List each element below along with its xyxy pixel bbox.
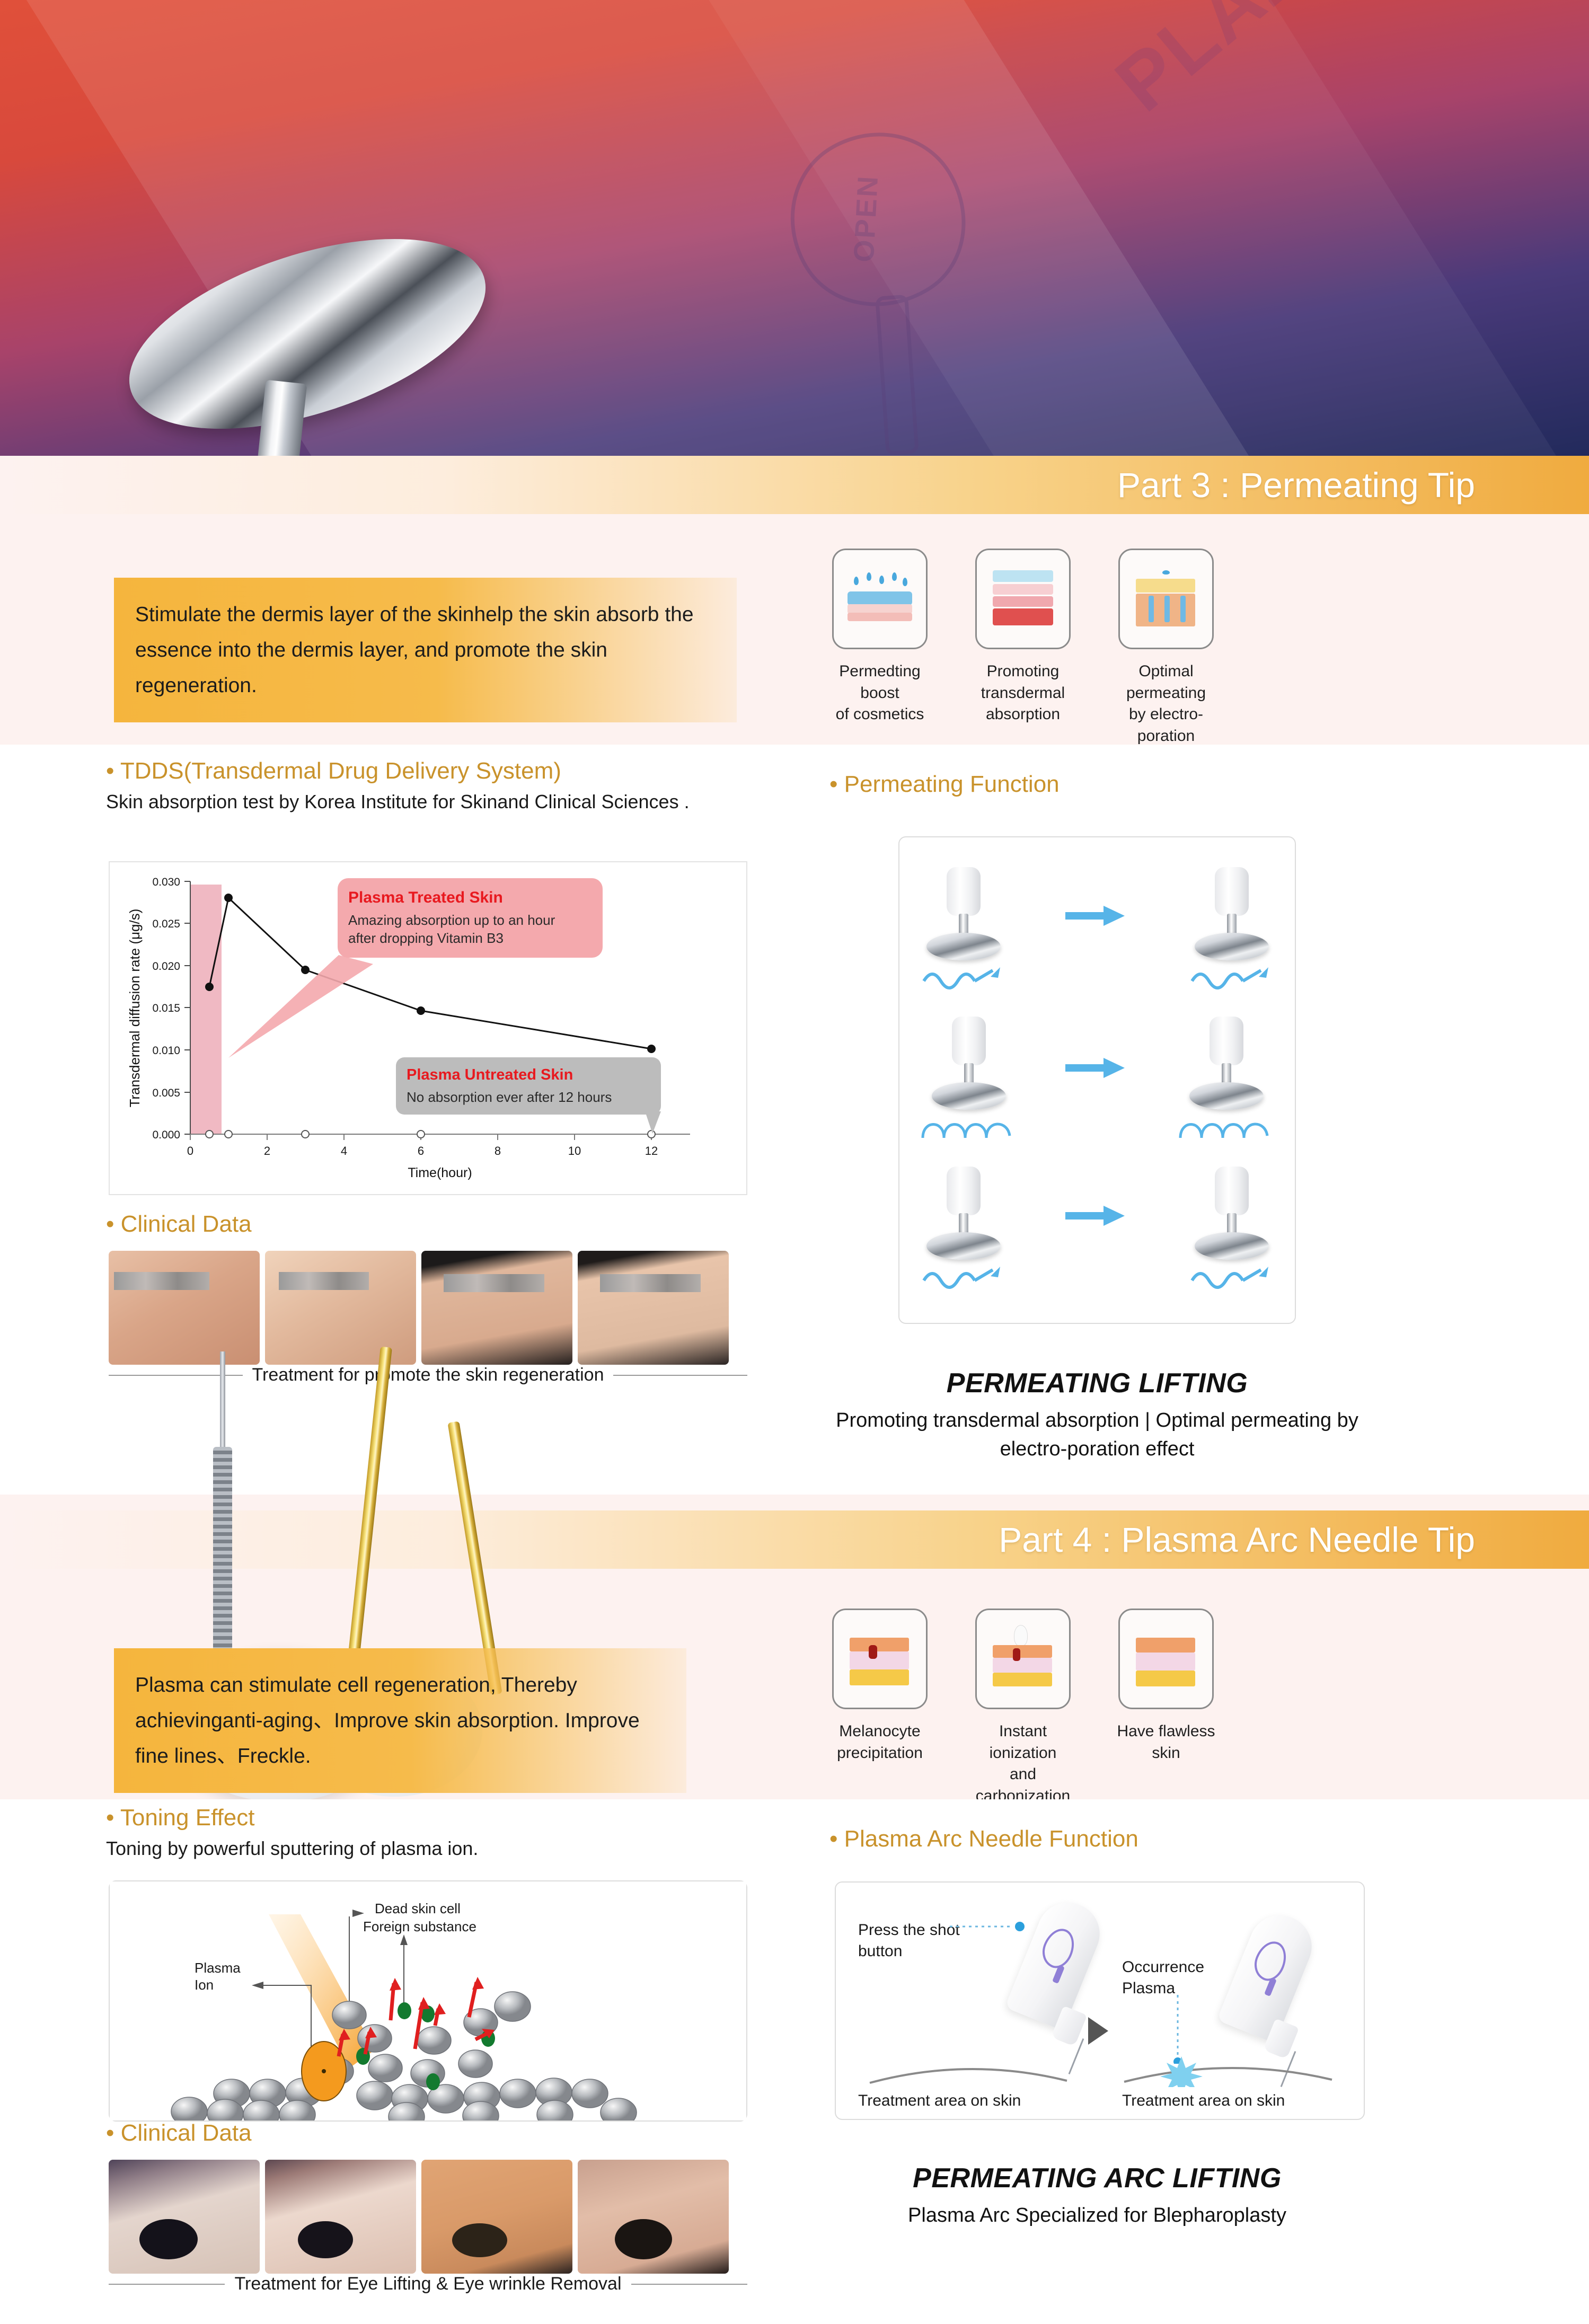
svg-text:Plasma: Plasma bbox=[195, 1960, 241, 1976]
tdds-heading: • TDDS(Transdermal Drug Delivery System) bbox=[106, 758, 769, 784]
permeating-lifting-title: PERMEATING LIFTING bbox=[829, 1367, 1365, 1399]
arc-step2-label: Occurrence Plasma bbox=[1122, 1957, 1204, 1999]
part3-clinical-heading: • Clinical Data bbox=[106, 1211, 252, 1238]
clinical-photo bbox=[265, 1251, 416, 1365]
permeating-function-heading: • Permeating Function bbox=[829, 771, 1060, 798]
part3-photo-caption: Treatment for promote the skin regenerat… bbox=[109, 1365, 747, 1385]
coil-icon bbox=[1178, 1115, 1274, 1143]
arrow-right-icon bbox=[1065, 1204, 1129, 1228]
svg-text:0.005: 0.005 bbox=[152, 1087, 180, 1099]
tdds-chart: 0.030 0.025 0.020 0.015 0.010 0.005 0.00… bbox=[110, 862, 746, 1194]
wave-icon bbox=[921, 1265, 1005, 1293]
part3-photo-row bbox=[109, 1251, 729, 1365]
arc-lifting-title: PERMEATING ARC LIFTING bbox=[829, 2162, 1365, 2194]
toning-block: • Toning Effect Toning by powerful sputt… bbox=[106, 1805, 769, 1862]
skin-curve-icon bbox=[868, 2055, 1069, 2087]
dotted-leader-icon bbox=[1173, 1995, 1182, 2064]
svg-text:Foreign substance: Foreign substance bbox=[363, 1919, 476, 1934]
svg-text:12: 12 bbox=[645, 1144, 658, 1157]
part3-icon-label-0: Permedting boost of cosmetics bbox=[829, 661, 930, 726]
melanocyte-icon bbox=[832, 1609, 928, 1709]
part4-icon-card-1: Instant ionization and carbonization of … bbox=[973, 1609, 1073, 1828]
svg-text:4: 4 bbox=[341, 1144, 347, 1157]
bullet-icon: • bbox=[106, 758, 114, 784]
part4-icon-label-2: Have flawless skin bbox=[1117, 1721, 1215, 1764]
bullet-icon: • bbox=[106, 1805, 114, 1831]
wave-icon bbox=[921, 965, 1005, 994]
arc-caption-2: Treatment area on skin bbox=[1122, 2090, 1285, 2111]
svg-text:Dead skin cell: Dead skin cell bbox=[375, 1901, 461, 1916]
clinical-photo bbox=[109, 1251, 260, 1365]
part4-icon-card-0: Melanocyte precipitation bbox=[829, 1609, 930, 1828]
svg-text:after dropping Vitamin B3: after dropping Vitamin B3 bbox=[348, 930, 504, 946]
part4-title: Part 4 : Plasma Arc Needle Tip bbox=[999, 1519, 1475, 1560]
clinical-eye-photo bbox=[265, 2160, 416, 2274]
part4-icon-label-0: Melanocyte precipitation bbox=[837, 1721, 923, 1764]
device-watermark-label: OPEN bbox=[848, 174, 885, 263]
part4-clinical-heading: • Clinical Data bbox=[106, 2120, 252, 2146]
flawless-skin-icon bbox=[1118, 1609, 1214, 1709]
part3-band: Part 3 : Permeating Tip bbox=[0, 456, 1589, 514]
part4-photo-row bbox=[109, 2160, 729, 2274]
part3-icon-card-1: Promoting transdermal absorption bbox=[973, 549, 1073, 768]
coil-icon bbox=[921, 1115, 1016, 1143]
clinical-eye-photo bbox=[109, 2160, 260, 2274]
toning-diagram: Plasma Ion Dead skin cell Foreign substa… bbox=[110, 1881, 746, 2120]
part3-icon-label-1: Promoting transdermal absorption bbox=[981, 661, 1065, 726]
svg-text:Plasma Untreated Skin: Plasma Untreated Skin bbox=[407, 1066, 573, 1083]
part3-icon-card-0: Permedting boost of cosmetics bbox=[829, 549, 930, 768]
page-root: PLAZ OPEN Part 3 : Permeating Tip Stimul… bbox=[0, 0, 1589, 2324]
part4-band: Part 4 : Plasma Arc Needle Tip bbox=[0, 1510, 1589, 1569]
permeating-tip-device-photo bbox=[90, 233, 493, 456]
clinical-photo bbox=[578, 1251, 729, 1365]
svg-text:Ion: Ion bbox=[195, 1977, 214, 1993]
svg-text:6: 6 bbox=[418, 1144, 424, 1157]
svg-text:Plasma Treated Skin: Plasma Treated Skin bbox=[348, 889, 503, 906]
svg-text:8: 8 bbox=[495, 1144, 501, 1157]
bullet-icon: • bbox=[106, 2120, 114, 2146]
svg-text:0.015: 0.015 bbox=[152, 1002, 180, 1014]
permeating-row-2 bbox=[921, 1017, 1274, 1143]
chart-highlight-band bbox=[190, 885, 222, 1134]
arc-step1-label: Press the shot button bbox=[858, 1920, 960, 1961]
svg-text:0.020: 0.020 bbox=[152, 960, 180, 973]
svg-text:0: 0 bbox=[187, 1144, 193, 1157]
plasma-spark-icon bbox=[1160, 2056, 1203, 2087]
device-icon bbox=[1191, 867, 1271, 965]
skin-curve-icon bbox=[1122, 2055, 1334, 2087]
arc-function-heading: • Plasma Arc Needle Function bbox=[829, 1826, 1138, 1852]
device-icon bbox=[1186, 1017, 1266, 1115]
arc-function-panel: Press the shot button Treatment area on … bbox=[835, 1881, 1365, 2120]
permeating-function-panel bbox=[898, 836, 1296, 1324]
permeating-lifting-caption: PERMEATING LIFTING Promoting transdermal… bbox=[829, 1367, 1365, 1464]
arc-caption-1: Treatment area on skin bbox=[858, 2090, 1021, 2111]
permeating-row-3 bbox=[921, 1167, 1274, 1293]
svg-text:2: 2 bbox=[264, 1144, 270, 1157]
arc-lifting-subtitle: Plasma Arc Specialized for Blepharoplast… bbox=[829, 2202, 1365, 2230]
bullet-icon: • bbox=[829, 771, 837, 797]
clinical-eye-photo bbox=[421, 2160, 572, 2274]
hero-banner: PLAZ OPEN bbox=[0, 0, 1589, 456]
toning-subtitle: Toning by powerful sputtering of plasma … bbox=[106, 1835, 769, 1862]
part4-icon-strip: Melanocyte precipitation Instant ionizat… bbox=[829, 1609, 1216, 1828]
clinical-eye-photo bbox=[578, 2160, 729, 2274]
arrow-right-icon bbox=[1085, 2015, 1111, 2047]
skin-layers-icon bbox=[975, 549, 1071, 649]
svg-text:Transdermal diffusion rate (μg: Transdermal diffusion rate (μg/s) bbox=[127, 909, 143, 1108]
device-icon bbox=[923, 867, 1003, 965]
electro-poration-icon bbox=[1118, 549, 1214, 649]
tdds-block: • TDDS(Transdermal Drug Delivery System)… bbox=[106, 758, 769, 815]
svg-text:0.000: 0.000 bbox=[152, 1129, 180, 1141]
svg-text:10: 10 bbox=[568, 1144, 581, 1157]
tdds-subtitle: Skin absorption test by Korea Institute … bbox=[106, 789, 769, 815]
part4-note: Plasma can stimulate cell regeneration, … bbox=[114, 1648, 686, 1793]
svg-text:0.030: 0.030 bbox=[152, 876, 180, 888]
part3-note: Stimulate the dermis layer of the skinhe… bbox=[114, 578, 737, 722]
part3-icon-card-2: Optimal permeating by electro-poration e… bbox=[1116, 549, 1216, 768]
svg-text:0.010: 0.010 bbox=[152, 1045, 180, 1057]
arrow-right-icon bbox=[1065, 904, 1129, 928]
arrow-right-icon bbox=[1065, 1056, 1129, 1080]
svg-text:0.025: 0.025 bbox=[152, 918, 180, 930]
toning-diagram-panel: Plasma Ion Dead skin cell Foreign substa… bbox=[109, 1880, 747, 2122]
ionization-icon bbox=[975, 1609, 1071, 1709]
tdds-chart-card: 0.030 0.025 0.020 0.015 0.010 0.005 0.00… bbox=[109, 861, 747, 1195]
part4-icon-card-2: Have flawless skin bbox=[1116, 1609, 1216, 1828]
wave-icon bbox=[1189, 1265, 1274, 1293]
part4-photo-caption: Treatment for Eye Lifting & Eye wrinkle … bbox=[109, 2274, 747, 2294]
device-icon bbox=[923, 1167, 1003, 1265]
bullet-icon: • bbox=[829, 1826, 837, 1852]
arc-lifting-caption: PERMEATING ARC LIFTING Plasma Arc Specia… bbox=[829, 2162, 1365, 2230]
part3-title: Part 3 : Permeating Tip bbox=[1117, 465, 1475, 505]
wave-icon bbox=[1189, 965, 1274, 994]
bullet-icon: • bbox=[106, 1211, 114, 1237]
svg-text:Amazing absorption up to an ho: Amazing absorption up to an hour bbox=[348, 912, 555, 928]
svg-text:No absorption ever after 12 ho: No absorption ever after 12 hours bbox=[407, 1089, 612, 1105]
device-icon bbox=[1191, 1167, 1271, 1265]
permeating-row-1 bbox=[921, 867, 1274, 994]
svg-text:Time(hour): Time(hour) bbox=[408, 1165, 472, 1180]
device-icon bbox=[929, 1017, 1008, 1115]
permeating-lifting-subtitle: Promoting transdermal absorption | Optim… bbox=[829, 1407, 1365, 1464]
skin-droplets-icon bbox=[832, 549, 928, 649]
clinical-photo bbox=[421, 1251, 572, 1365]
part3-icon-strip: Permedting boost of cosmetics Promoting … bbox=[829, 549, 1216, 768]
